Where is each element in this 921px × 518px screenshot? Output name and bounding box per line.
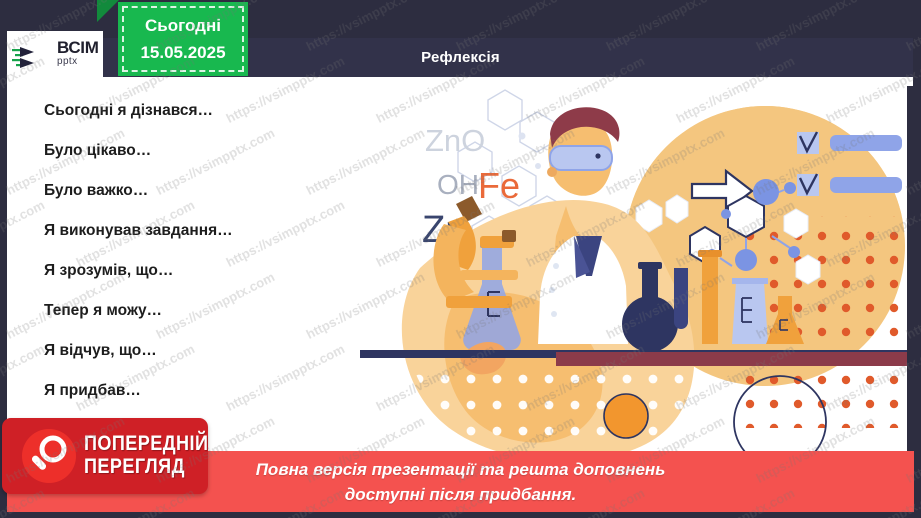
preview-badge[interactable]: ПОПЕРЕДНІЙ ПЕРЕГЛЯД bbox=[2, 418, 208, 494]
svg-text:Fe: Fe bbox=[478, 165, 520, 206]
logo-name: ВСІМ bbox=[57, 39, 99, 56]
svg-text:ZnO: ZnO bbox=[425, 123, 485, 158]
reflection-prompt-list: Сьогодні я дізнався… Було цікаво… Було в… bbox=[44, 100, 364, 460]
date-badge-value: 15.05.2025 bbox=[140, 43, 225, 63]
brand-logo[interactable]: ВСІМ pptx bbox=[7, 31, 103, 85]
preview-badge-line-2: ПЕРЕГЛЯД bbox=[84, 455, 185, 478]
banner-line-1: Повна версія презентації та решта доповн… bbox=[256, 457, 666, 482]
graduation-cap-icon bbox=[12, 45, 34, 71]
list-item: Я придбав… bbox=[44, 380, 364, 420]
ribbon-fold bbox=[97, 0, 119, 22]
list-item: Тепер я можу… bbox=[44, 300, 364, 340]
illustration-area: ZnO OH Zn Fe Cr bbox=[360, 86, 907, 457]
magnifier-icon bbox=[22, 429, 76, 483]
window-frame-right bbox=[913, 0, 921, 518]
window-frame-bottom bbox=[0, 512, 921, 518]
preview-badge-line-1: ПОПЕРЕДНІЙ bbox=[84, 432, 185, 455]
slide-container: ZnO OH Zn Fe Cr bbox=[0, 0, 921, 518]
list-item: Сьогодні я дізнався… bbox=[44, 100, 364, 140]
preview-badge-text: ПОПЕРЕДНІЙ ПЕРЕГЛЯД bbox=[84, 432, 185, 478]
list-item: Було цікаво… bbox=[44, 140, 364, 180]
date-badge: Сьогодні 15.05.2025 bbox=[118, 2, 248, 76]
list-item: Я відчув, що… bbox=[44, 340, 364, 380]
page-top-strip bbox=[7, 77, 914, 86]
svg-text:OH: OH bbox=[437, 169, 479, 200]
list-item: Я виконував завдання… bbox=[44, 220, 364, 260]
banner-line-2: доступні після придбання. bbox=[345, 482, 576, 507]
date-badge-label: Сьогодні bbox=[145, 16, 221, 36]
list-item: Було важко… bbox=[44, 180, 364, 220]
logo-subtitle: pptx bbox=[57, 57, 99, 67]
logo-text: ВСІМ pptx bbox=[57, 39, 99, 67]
list-item: Я зрозумів, що… bbox=[44, 260, 364, 300]
page-title: Рефлексія bbox=[421, 49, 500, 66]
